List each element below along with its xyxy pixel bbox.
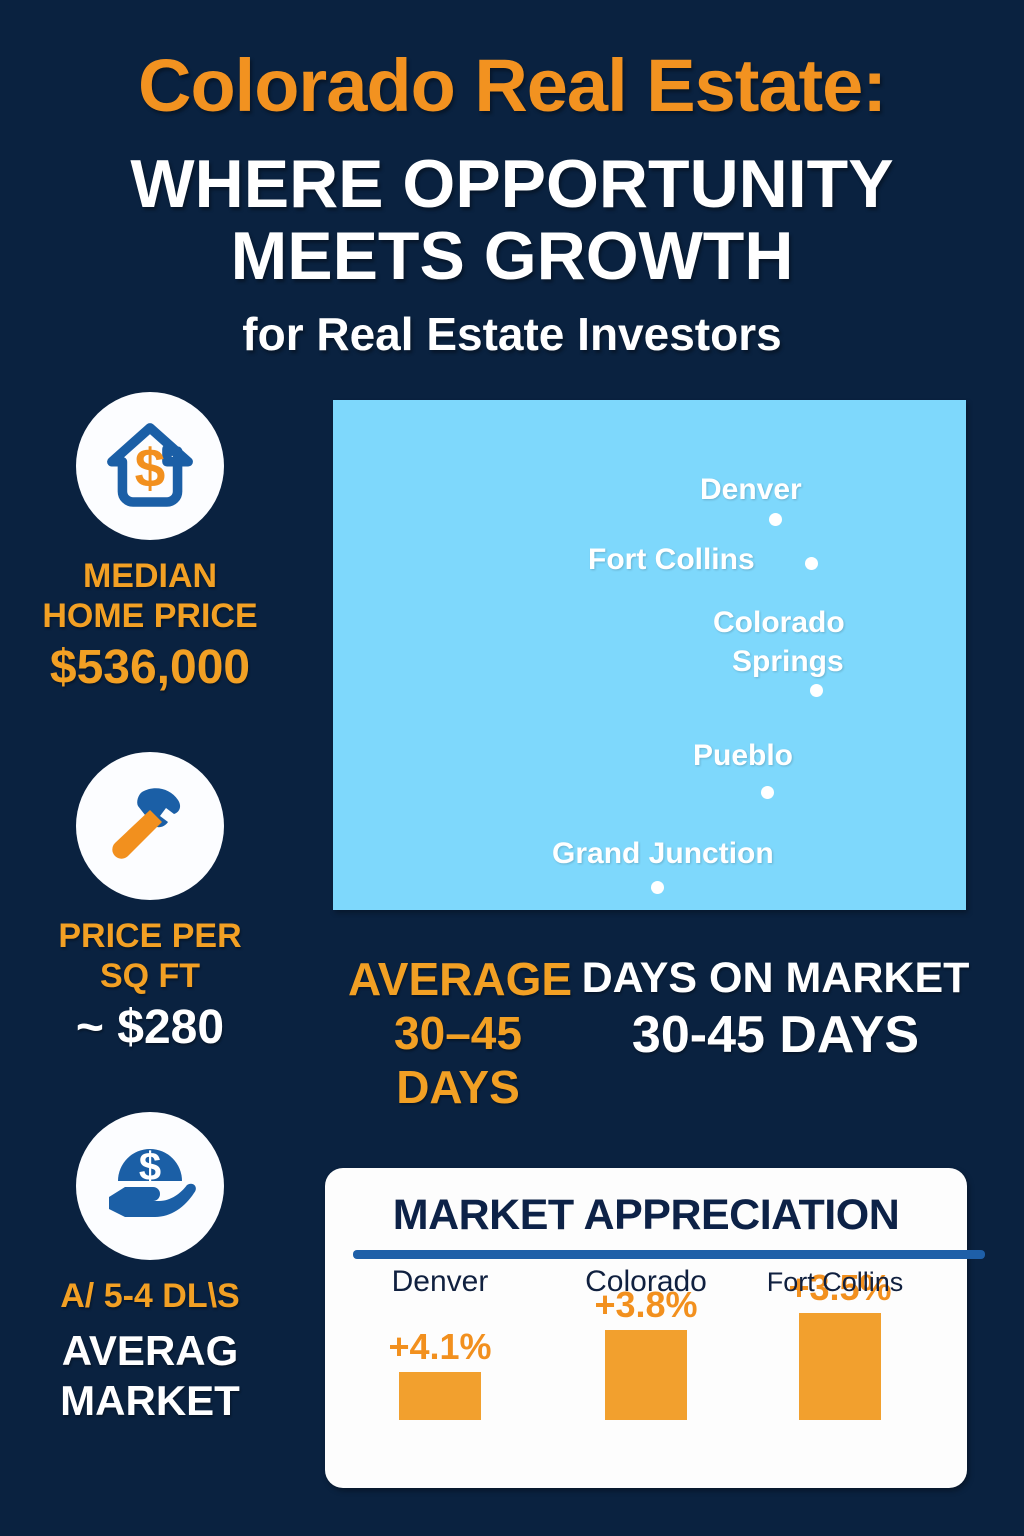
house-dollar-icon: $	[76, 392, 224, 540]
dom-left-line1: AVERAGE	[348, 952, 568, 1006]
svg-text:$: $	[135, 437, 166, 499]
chart-bar-denver[interactable]	[399, 1372, 481, 1420]
stat-sub-line1: AVERAG	[0, 1326, 300, 1376]
stat-label-line2: SQ FT	[0, 956, 300, 996]
map-dot-denver	[769, 513, 782, 526]
chart-baseline-axis	[353, 1250, 985, 1259]
map-dot-colorado-springs	[810, 684, 823, 697]
dom-left-line2: 30–45	[348, 1006, 568, 1060]
map-dot-fort-collins	[805, 557, 818, 570]
days-on-market-left: AVERAGE 30–45 DAYS	[348, 952, 568, 1114]
colorado-state-map[interactable]: Denver Fort Collins Colorado Springs Pue…	[333, 400, 966, 910]
stat-value-price-per-sqft: ~ $280	[0, 1000, 300, 1056]
map-dot-grand-junction	[651, 881, 664, 894]
map-city-label: Pueblo	[693, 738, 793, 774]
page-title-main-line2: MEETS GROWTH	[0, 220, 1024, 292]
market-appreciation-card: MARKET APPRECIATION +4.1% +3.8% +3.5%	[325, 1168, 967, 1488]
dom-right-line2: 30-45 DAYS	[578, 1004, 973, 1066]
stat-average-market: $ A/ 5-4 DL\S AVERAG MARKET	[0, 1112, 300, 1426]
page-title-accent: Colorado Real Estate:	[0, 0, 1024, 128]
map-city-colorado-springs-line2[interactable]: Springs	[732, 644, 844, 680]
stat-label-average-market: A/ 5-4 DL\S	[0, 1276, 300, 1316]
dom-right-line1: DAYS ON MARKET	[578, 952, 973, 1004]
chart-axis-label-fort-collins: Fort Collins	[750, 1262, 920, 1302]
stat-price-per-sqft: PRICE PER SQ FT ~ $280	[0, 752, 300, 1056]
dom-left-line3: DAYS	[348, 1060, 568, 1114]
chart-axis-label-colorado: Colorado	[561, 1262, 731, 1302]
map-city-label: Springs	[732, 644, 844, 680]
stat-sub-line2: MARKET	[0, 1376, 300, 1426]
chart-axis-label-denver: Denver	[355, 1262, 525, 1302]
chart-bar-colorado[interactable]	[605, 1330, 687, 1420]
map-city-label: Denver	[700, 472, 802, 508]
svg-text:$: $	[139, 1145, 161, 1189]
stat-label-line2: HOME PRICE	[0, 596, 300, 636]
header: Colorado Real Estate: WHERE OPPORTUNITY …	[0, 0, 1024, 360]
days-on-market-right: DAYS ON MARKET 30-45 DAYS	[578, 952, 973, 1066]
chart-bar-value-label: +4.1%	[388, 1326, 491, 1368]
page-title-main-line1: WHERE OPPORTUNITY	[0, 128, 1024, 220]
chart-title: MARKET APPRECIATION	[325, 1168, 967, 1240]
chart-axis-labels: Denver Colorado Fort Collins	[365, 1262, 927, 1322]
map-city-colorado-springs[interactable]: Colorado	[713, 605, 845, 641]
map-city-fort-collins[interactable]: Fort Collins	[588, 542, 755, 578]
map-dot-pueblo	[761, 786, 774, 799]
map-city-pueblo[interactable]: Pueblo	[693, 738, 793, 774]
stat-value-median-home-price: $536,000	[0, 640, 300, 696]
stat-label-line1: PRICE PER	[0, 916, 300, 956]
hammer-icon	[76, 752, 224, 900]
chart-bar-fort-collins[interactable]	[799, 1313, 881, 1420]
map-city-label: Fort Collins	[588, 542, 755, 578]
hand-holding-money-icon: $	[76, 1112, 224, 1260]
page-subtitle: for Real Estate Investors	[0, 292, 1024, 360]
map-city-label: Colorado	[713, 605, 845, 641]
stat-median-home-price: $ MEDIAN HOME PRICE $536,000	[0, 392, 300, 696]
map-city-grand-junction[interactable]: Grand Junction	[552, 836, 774, 872]
stat-label-line1: MEDIAN	[0, 556, 300, 596]
infographic-root: Colorado Real Estate: WHERE OPPORTUNITY …	[0, 0, 1024, 1536]
map-city-label: Grand Junction	[552, 836, 774, 872]
map-city-denver[interactable]: Denver	[700, 472, 802, 508]
